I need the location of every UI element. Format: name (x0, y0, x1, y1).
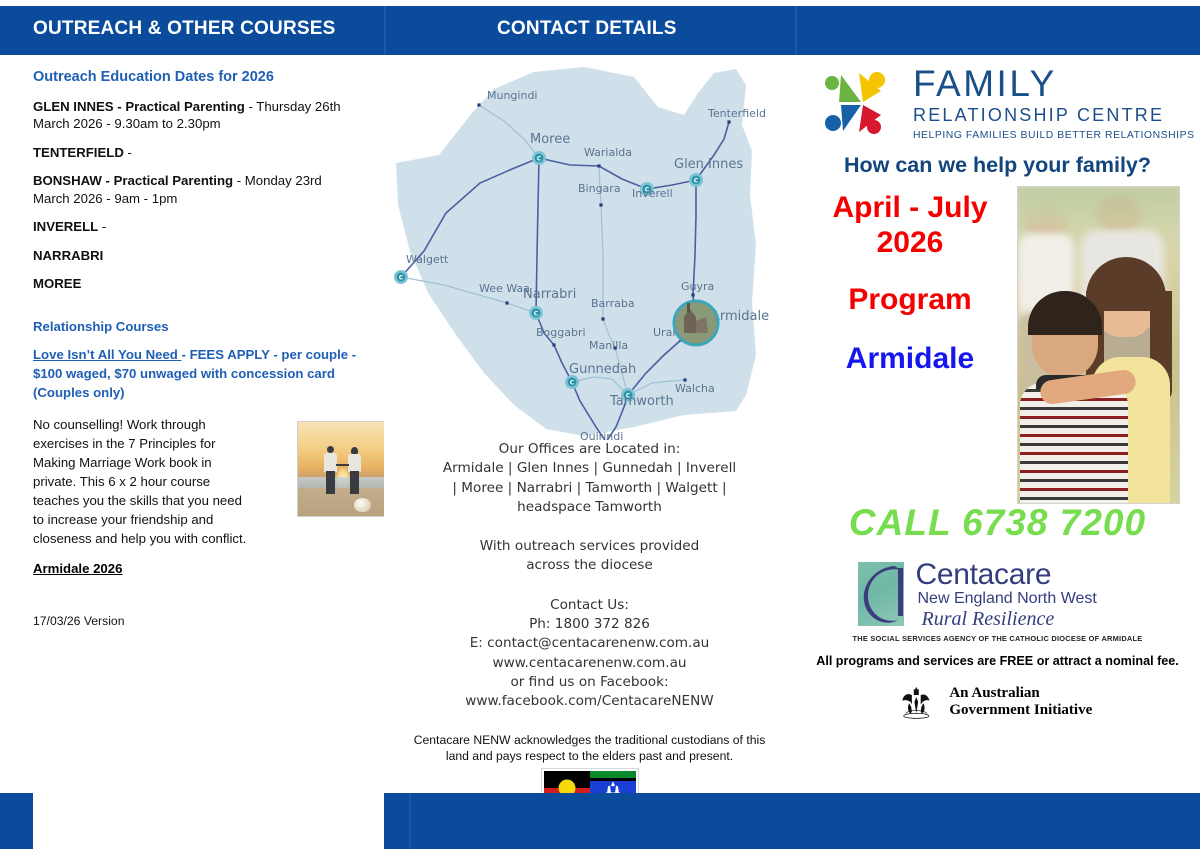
program-title-block: April - July 2026 Program Armidale (805, 190, 1015, 376)
map-town-label: Narrabri (523, 287, 576, 302)
offices-line-3: headspace Tamworth (384, 498, 795, 517)
header-divider-1 (384, 6, 386, 55)
outreach-course-item: NARRABRI (33, 247, 359, 264)
map-town-label: Moree (530, 132, 570, 147)
outreach-subheading: Outreach Education Dates for 2026 (33, 69, 359, 85)
map-town-dot (691, 293, 694, 296)
centacare-logo: Centacare New England North West Rural R… (795, 558, 1200, 646)
region-map-svg: CCCCCCC MungindiTenterfieldMoreeWarialda… (384, 55, 795, 440)
course-town: NARRABRI (33, 248, 103, 263)
offices-line-2: | Moree | Narrabri | Tamworth | Walgett … (384, 479, 795, 498)
map-town-label: Tamworth (609, 394, 674, 409)
course-town: MOREE (33, 276, 81, 291)
course-separator: - (114, 99, 126, 114)
map-town-label: Tenterfield (707, 107, 766, 120)
contact-email[interactable]: E: contact@centacarenenw.com.au (384, 634, 795, 653)
map-town-dot (597, 164, 600, 167)
region-map: CCCCCCC MungindiTenterfieldMoreeWarialda… (384, 55, 795, 440)
outreach-note: With outreach services provided across t… (384, 537, 795, 576)
man-torso-shape (324, 453, 337, 472)
footer-left-block (0, 793, 33, 849)
program-title-and-photo: April - July 2026 Program Armidale (795, 186, 1200, 496)
map-town-dot (505, 301, 508, 304)
map-town-dot (552, 343, 555, 346)
program-location: Armidale (805, 341, 1015, 376)
brochure-page: OUTREACH & OTHER COURSES CONTACT DETAILS… (0, 0, 1200, 849)
course-separator: - (124, 145, 132, 160)
man-head-shape (327, 446, 334, 453)
outreach-course-item: BONSHAW - Practical Parenting - Monday 2… (33, 172, 359, 207)
course-name: Practical Parenting (125, 99, 244, 114)
map-town-label: Walgett (406, 253, 449, 266)
offices-block: Our Offices are Located in: Armidale | G… (384, 440, 795, 712)
course-town: TENTERFIELD (33, 145, 124, 160)
contact-phone[interactable]: Ph: 1800 372 826 (384, 615, 795, 634)
acknowledgement-line-2: land and pays respect to the elders past… (412, 748, 767, 764)
government-initiative-label: An Australian Government Initiative (949, 685, 1098, 719)
map-town-label: Manilla (589, 339, 628, 352)
call-phone-number[interactable]: CALL 6738 7200 (795, 502, 1200, 544)
outreach-course-item: MOREE (33, 275, 359, 292)
version-stamp: 17/03/26 Version (33, 614, 359, 628)
outreach-note-line-2: across the diocese (384, 556, 795, 575)
headline-question: How can we help your family? (795, 153, 1200, 178)
offices-label: Our Offices are Located in: (384, 440, 795, 459)
course-town: INVERELL (33, 219, 98, 234)
family-relationship-centre-logo: FAMILY RELATIONSHIP CENTRE HELPING FAMIL… (795, 63, 1200, 143)
woman-legs-shape (350, 471, 359, 494)
frc-title-relationship-centre: RELATIONSHIP CENTRE (913, 105, 1195, 126)
course-name: Practical Parenting (114, 173, 233, 188)
footer-divider (409, 793, 411, 849)
frc-pinwheel-icon (819, 69, 903, 139)
woman-torso-shape (348, 454, 361, 472)
map-town-dot (599, 203, 602, 206)
armidale-photo-marker (674, 301, 718, 345)
tsi-flag-green-top (590, 771, 636, 778)
course-town: GLEN INNES (33, 99, 114, 114)
outreach-note-line-1: With outreach services provided (384, 537, 795, 556)
map-town-dot (601, 317, 604, 320)
course-name-love-isnt-all-you-need: Love Isn’t All You Need (33, 347, 182, 362)
panel-title-contact: CONTACT DETAILS (497, 18, 677, 40)
centacare-tagline: THE SOCIAL SERVICES AGENCY OF THE CATHOL… (848, 634, 1148, 643)
outreach-course-item: INVERELL - (33, 218, 359, 235)
contact-block: Contact Us: Ph: 1800 372 826 E: contact@… (384, 596, 795, 712)
map-town-label: Mungindi (487, 89, 537, 102)
course-description: No counselling! Work through exercises i… (33, 415, 248, 548)
map-town-label: Quirindi (580, 430, 623, 440)
map-town-label: Walcha (675, 382, 715, 395)
family-photo (1017, 186, 1180, 504)
course-separator: - (98, 219, 106, 234)
government-initiative-row: An Australian Government Initiative (795, 674, 1200, 734)
map-office-marker-letter: C (537, 155, 542, 162)
course-separator: - (245, 99, 256, 114)
australian-coat-of-arms-icon (896, 674, 935, 730)
acknowledgement-line-1: Centacare NENW acknowledges the traditio… (412, 732, 767, 748)
map-town-label: Gunnedah (569, 362, 636, 377)
facebook-url[interactable]: www.facebook.com/CentacareNENW (384, 692, 795, 711)
middle-panel: CCCCCCC MungindiTenterfieldMoreeWarialda… (384, 55, 795, 793)
header-divider-2 (795, 6, 797, 55)
centacare-region: New England North West (918, 590, 1097, 608)
panel-title-outreach: OUTREACH & OTHER COURSES (33, 18, 335, 40)
course-separator: - (106, 173, 114, 188)
offices-line-1: Armidale | Glen Innes | Gunnedah | Inver… (384, 459, 795, 478)
program-word: Program (805, 282, 1015, 317)
footer-bar (384, 793, 1200, 849)
relationship-courses-heading: Relationship Courses (33, 319, 359, 334)
program-period-line-2: 2026 (805, 225, 1015, 260)
beach-couple-photo (297, 421, 385, 517)
centacare-name: Centacare (916, 558, 1052, 592)
right-panel: FAMILY RELATIONSHIP CENTRE HELPING FAMIL… (795, 55, 1200, 793)
map-town-label: Bingara (578, 182, 621, 195)
program-period-line-1: April - July (805, 190, 1015, 225)
header-bar: OUTREACH & OTHER COURSES CONTACT DETAILS (0, 6, 1200, 55)
map-town-label: Barraba (591, 297, 635, 310)
facebook-label: or find us on Facebook: (384, 673, 795, 692)
map-town-dot (477, 103, 480, 106)
left-panel: Outreach Education Dates for 2026 GLEN I… (0, 55, 384, 793)
frc-title-family: FAMILY (913, 65, 1195, 102)
armidale-year-label: Armidale 2026 (33, 561, 359, 576)
background-foliage-shape (1018, 187, 1180, 227)
map-town-label: Boggabri (536, 326, 586, 339)
man-legs-shape (326, 471, 335, 494)
map-town-dot (727, 120, 730, 123)
frc-tagline: HELPING FAMILIES BUILD BETTER RELATIONSH… (913, 130, 1195, 141)
map-office-marker-letter: C (570, 379, 575, 386)
outreach-course-list: GLEN INNES - Practical Parenting - Thurs… (33, 98, 359, 292)
joined-hands-shape (336, 464, 349, 466)
map-town-label: Guyra (681, 280, 714, 293)
map-town-label: Inverell (632, 187, 673, 200)
centacare-program: Rural Resilience (922, 608, 1055, 631)
acknowledgement-of-country: Centacare NENW acknowledges the traditio… (384, 732, 795, 764)
course-town: BONSHAW (33, 173, 106, 188)
map-office-marker-letter: C (399, 274, 404, 281)
fees-paragraph: Love Isn’t All You Need - FEES APPLY - p… (33, 346, 359, 402)
outreach-course-item: GLEN INNES - Practical Parenting - Thurs… (33, 98, 359, 133)
contact-label: Contact Us: (384, 596, 795, 615)
centacare-c-icon (854, 560, 914, 632)
map-town-label: Armidale (711, 309, 769, 324)
map-office-marker-letter: C (694, 177, 699, 184)
outreach-course-item: TENTERFIELD - (33, 144, 359, 161)
seashell-shape (354, 498, 371, 512)
sand-band (298, 488, 384, 517)
contact-website[interactable]: www.centacarenenw.com.au (384, 654, 795, 673)
map-town-label: Glen Innes (674, 157, 743, 172)
free-services-note: All programs and services are FREE or at… (795, 654, 1200, 668)
course-separator: - (233, 173, 245, 188)
boy-striped-shirt-shape (1020, 383, 1128, 504)
map-office-marker-letter: C (534, 310, 539, 317)
map-town-label: Warialda (584, 146, 632, 159)
